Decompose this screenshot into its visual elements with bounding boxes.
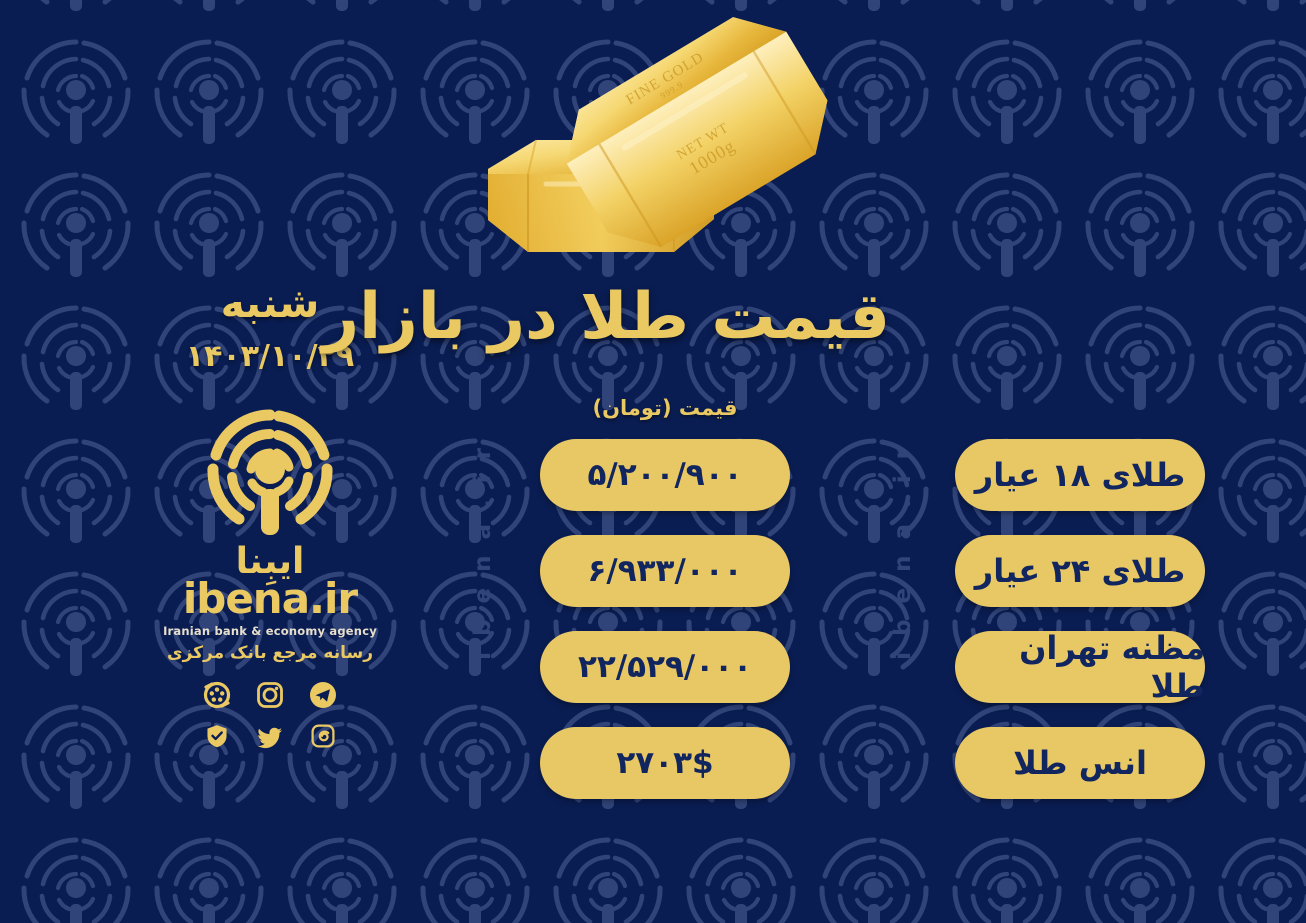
price-label: انس طلا: [955, 727, 1205, 799]
price-label: طلای ۲۴ عیار: [955, 535, 1205, 607]
price-value: ۵/۲۰۰/۹۰۰: [540, 439, 790, 511]
price-label: مظنه تهران طلا: [955, 631, 1205, 703]
svg-text:FINE GOLD: FINE GOLD: [623, 49, 706, 108]
gold-bars-illustration: FINE GOLD 999.9 NET WT 1000g: [466, 14, 916, 299]
price-table: ۵/۲۰۰/۹۰۰ طلای ۱۸ عیار ۶/۹۳۳/۰۰۰ طلای ۲۴…: [0, 439, 1306, 823]
table-row: ۵/۲۰۰/۹۰۰ طلای ۱۸ عیار: [0, 439, 1306, 535]
price-value: ۲۲/۵۲۹/۰۰۰: [540, 631, 790, 703]
price-value: ۲۷۰۳$: [540, 727, 790, 799]
svg-text:999.9: 999.9: [658, 79, 685, 101]
price-value: ۶/۹۳۳/۰۰۰: [540, 535, 790, 607]
price-label: طلای ۱۸ عیار: [955, 439, 1205, 511]
table-row: ۲۲/۵۲۹/۰۰۰ مظنه تهران طلا: [0, 631, 1306, 727]
poster-canvas: شنبه ۱۴۰۳/۱۰/۲۹: [0, 0, 1306, 923]
svg-text:1000g: 1000g: [685, 135, 738, 178]
svg-text:NET WT: NET WT: [674, 121, 731, 164]
price-column-header: قیمت (تومان): [540, 396, 790, 420]
table-row: ۶/۹۳۳/۰۰۰ طلای ۲۴ عیار: [0, 535, 1306, 631]
table-row: ۲۷۰۳$ انس طلا: [0, 727, 1306, 823]
page-title: قیمت طلا در بازار: [420, 280, 890, 354]
